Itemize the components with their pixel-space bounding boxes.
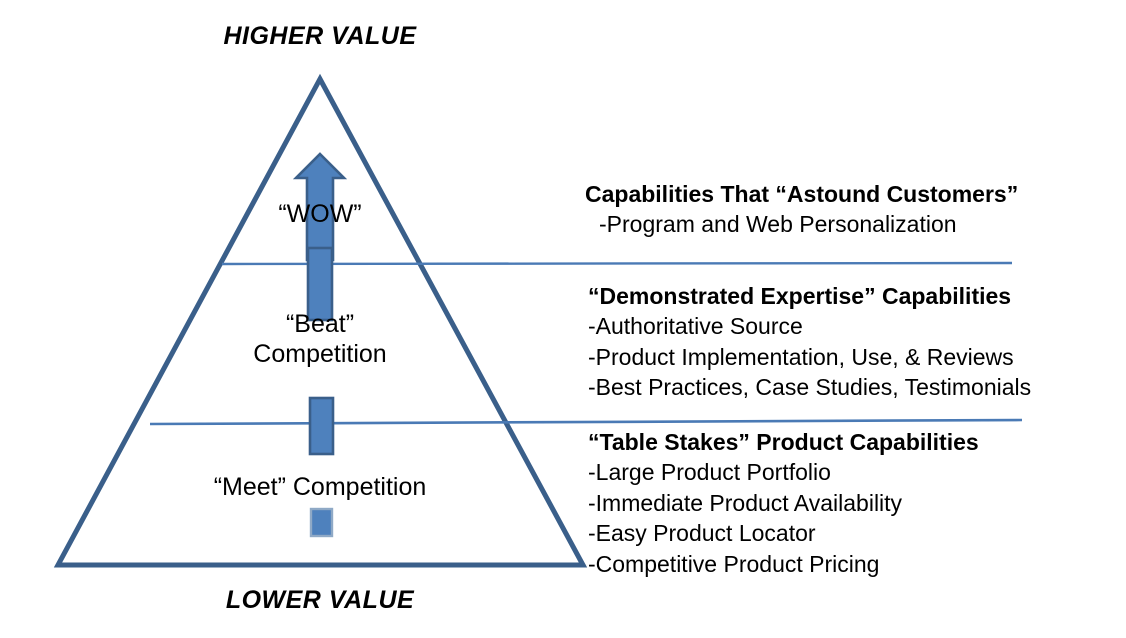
capability-item: -Large Product Portfolio bbox=[588, 457, 979, 488]
divider-line-lower bbox=[150, 420, 1022, 424]
value-arrow-segment-lower bbox=[311, 509, 332, 536]
capability-block-wow: Capabilities That “Astound Customers” -P… bbox=[585, 180, 1018, 240]
capability-item: -Authoritative Source bbox=[588, 311, 1031, 342]
capability-block-beat: “Demonstrated Expertise” Capabilities -A… bbox=[588, 282, 1031, 403]
tier-label-meet: “Meet” Competition bbox=[110, 473, 530, 503]
tier-label-beat: “Beat” Competition bbox=[180, 310, 460, 369]
tier-label-beat-line2: Competition bbox=[180, 340, 460, 370]
capability-item: -Immediate Product Availability bbox=[588, 488, 979, 519]
tier-label-wow: “WOW” bbox=[180, 200, 460, 230]
value-arrow-segment-middle bbox=[310, 398, 333, 454]
divider-line-upper bbox=[222, 263, 1012, 264]
lower-value-caption: LOWER VALUE bbox=[0, 586, 640, 615]
diagram-canvas: HIGHER VALUE “WOW” “Beat” Competition “M… bbox=[0, 0, 1126, 638]
capability-heading-beat: “Demonstrated Expertise” Capabilities bbox=[588, 282, 1031, 311]
capability-item: -Program and Web Personalization bbox=[585, 209, 1018, 240]
capability-heading-wow: Capabilities That “Astound Customers” bbox=[585, 180, 1018, 209]
capability-item: -Product Implementation, Use, & Reviews bbox=[588, 342, 1031, 373]
capability-item: -Competitive Product Pricing bbox=[588, 549, 979, 580]
capability-item: -Easy Product Locator bbox=[588, 518, 979, 549]
capability-heading-meet: “Table Stakes” Product Capabilities bbox=[588, 428, 979, 457]
capability-block-meet: “Table Stakes” Product Capabilities -Lar… bbox=[588, 428, 979, 579]
capability-item: -Best Practices, Case Studies, Testimoni… bbox=[588, 372, 1031, 403]
tier-label-beat-line1: “Beat” bbox=[180, 310, 460, 340]
